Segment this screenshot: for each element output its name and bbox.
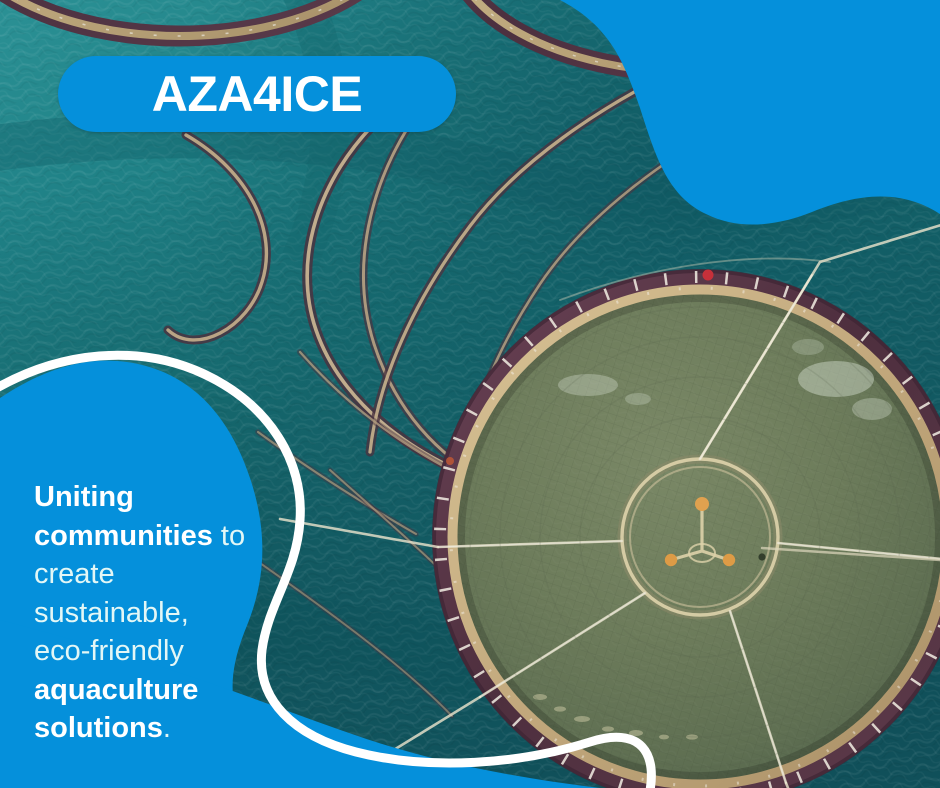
tagline-line-2-bold: communities [34, 520, 213, 552]
tagline-line-1: Uniting [34, 481, 134, 513]
tagline-line-4: sustainable, [34, 597, 189, 629]
tagline-block: Uniting communities to create sustainabl… [34, 478, 270, 748]
tagline-line-6: aquaculture [34, 674, 198, 706]
tagline-period: . [163, 712, 171, 744]
tagline-line-3: create [34, 558, 115, 590]
tagline-line-7: solutions [34, 712, 163, 744]
promo-poster: AZA4ICE Uniting communities to create su… [0, 0, 940, 788]
brand-logo-pill[interactable]: AZA4ICE [58, 56, 456, 132]
tagline-line-5: eco-friendly [34, 635, 184, 667]
tagline-line-2-normal: to [213, 520, 245, 552]
brand-logo-text: AZA4ICE [152, 69, 362, 119]
